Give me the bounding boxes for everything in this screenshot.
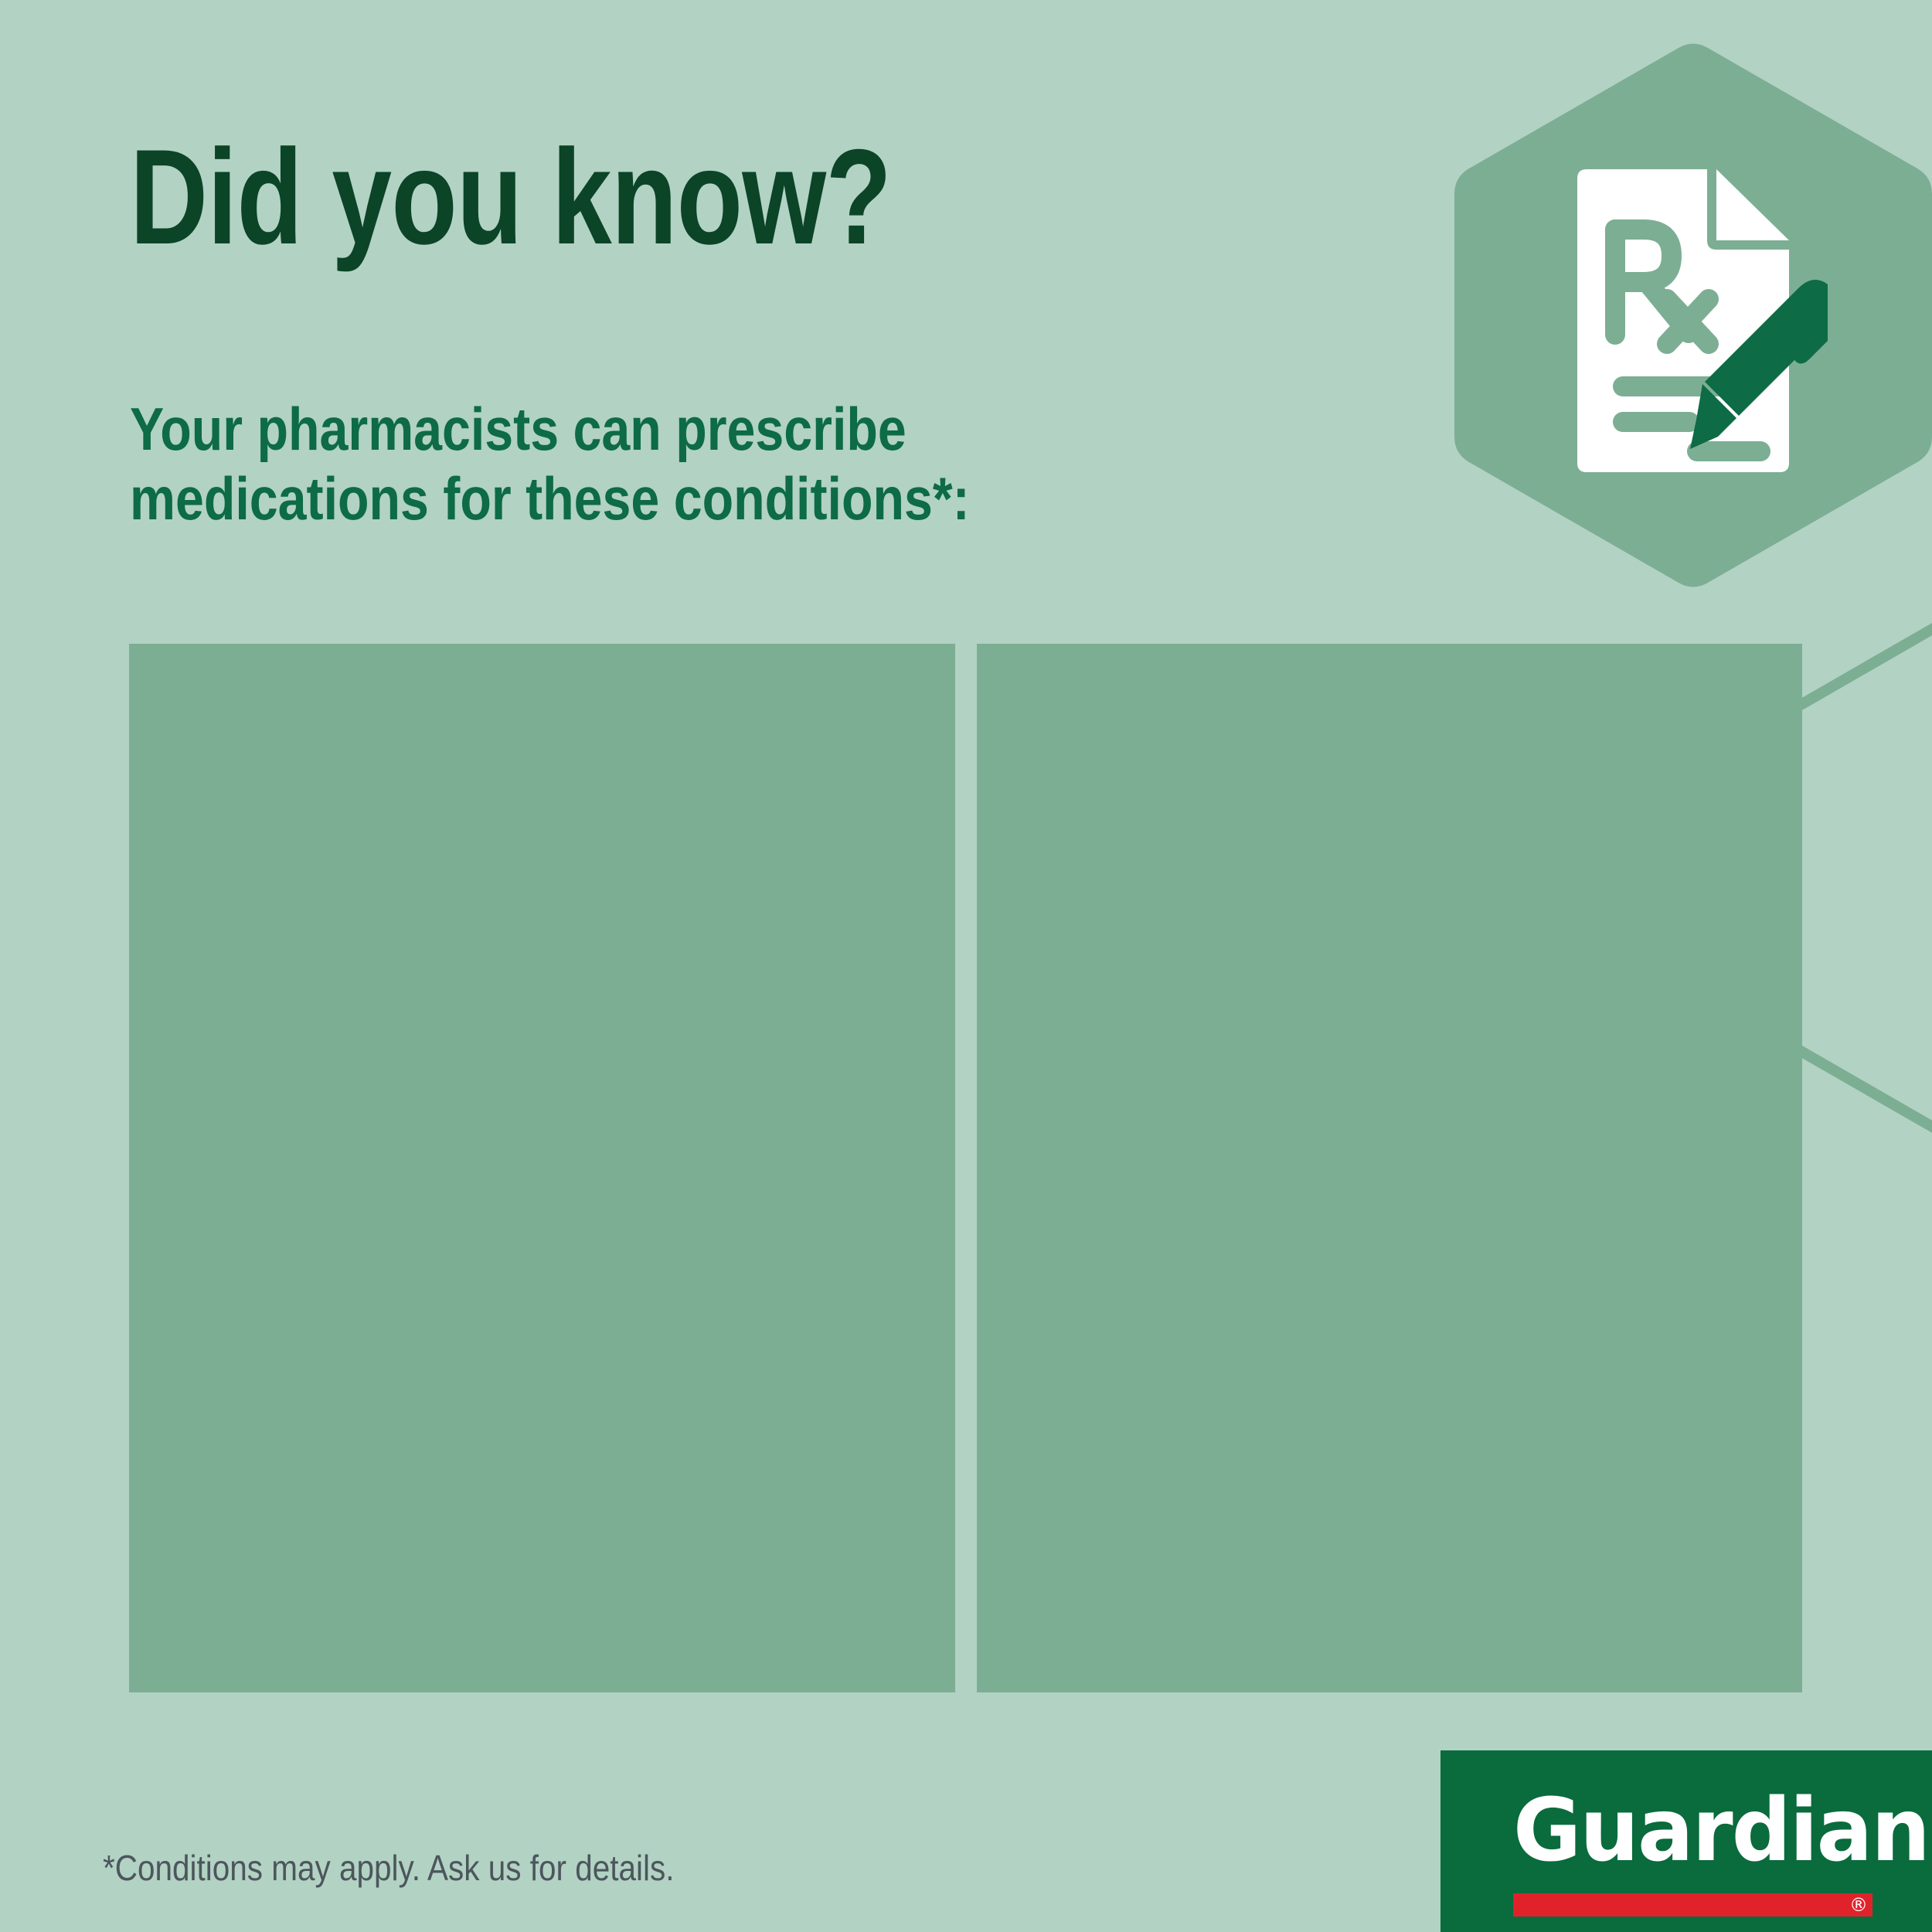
page-subtitle-line-1: Your pharmacists can prescribe (130, 394, 1247, 464)
conditions-panel-group (129, 644, 1802, 1692)
page-title: Did you know? (130, 130, 1057, 265)
rx-icon-svg (1573, 158, 1828, 483)
conditions-panel-left (129, 644, 955, 1692)
guardian-red-bar: ® (1513, 1893, 1872, 1917)
registered-trademark-icon: ® (1849, 1896, 1868, 1914)
page-subtitle: Your pharmacists can prescribe medicatio… (130, 394, 1247, 534)
poster-canvas: Did you know? Your pharmacists can presc… (0, 0, 1932, 1932)
conditions-panel-right (977, 644, 1802, 1692)
guardian-wordmark: Guardian (1513, 1787, 1929, 1874)
guardian-logo: Guardian ® (1440, 1750, 1932, 1932)
page-subtitle-line-2: medications for these conditions*: (130, 464, 1247, 533)
footnote-disclaimer: *Conditions may apply. Ask us for detail… (103, 1849, 675, 1888)
prescription-document-with-pen-icon (1573, 158, 1828, 483)
document-line-2 (1613, 412, 1699, 432)
